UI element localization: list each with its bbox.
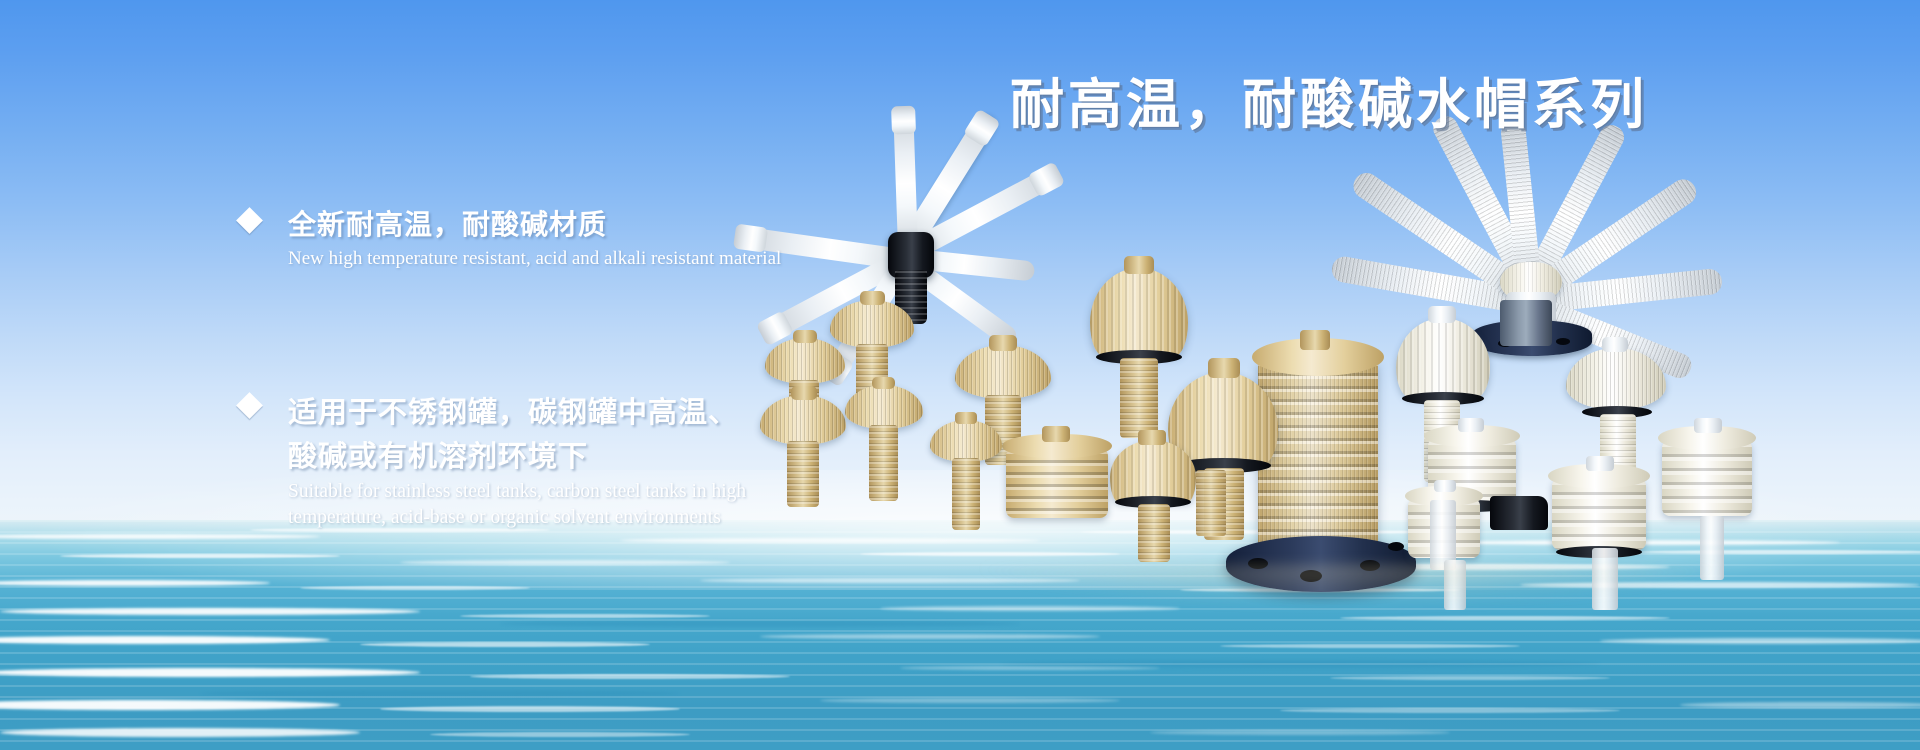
feature-bullet-2: 适用于不锈钢罐，碳钢罐中高温、 酸碱或有机溶剂环境下 Suitable for … (288, 390, 746, 530)
feature-bullet-2-cn-line2: 酸碱或有机溶剂环境下 (288, 434, 746, 478)
feature-bullet-2-en-line2: temperature, acid-base or organic solven… (288, 505, 746, 530)
feature-bullet-2-cn-line1: 适用于不锈钢罐，碳钢罐中高温、 (288, 390, 746, 434)
diamond-bullet-icon (236, 392, 263, 419)
diamond-bullet-icon (236, 207, 263, 234)
feature-bullet-1-en: New high temperature resistant, acid and… (288, 247, 781, 271)
feature-bullet-1-cn: 全新耐高温，耐酸碱材质 (288, 205, 781, 245)
banner-root: 耐高温，耐酸碱水帽系列 全新耐高温，耐酸碱材质 New high tempera… (0, 0, 1920, 750)
feature-bullet-list: 全新耐高温，耐酸碱材质 New high temperature resista… (0, 0, 960, 750)
feature-bullet-1: 全新耐高温，耐酸碱材质 New high temperature resista… (288, 205, 781, 271)
feature-bullet-2-en-line1: Suitable for stainless steel tanks, carb… (288, 479, 746, 504)
page-title: 耐高温，耐酸碱水帽系列 (1010, 60, 1648, 139)
